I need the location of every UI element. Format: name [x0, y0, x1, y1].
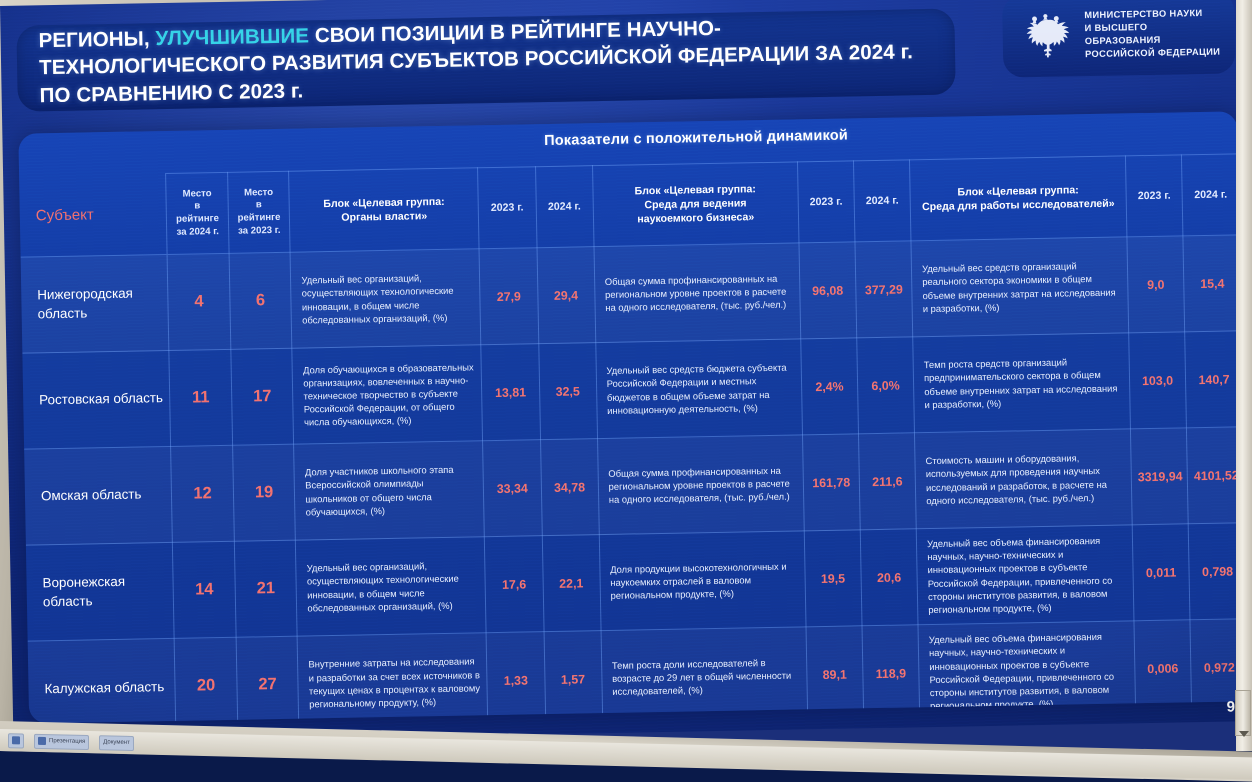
cell-block2-indicator: Темп роста доли исследователей в возраст… — [601, 627, 808, 724]
window-scrollbar[interactable] — [1236, 0, 1252, 751]
taskbar-item-presentation[interactable]: Презентация — [34, 733, 89, 749]
col-header-subject: Субъект — [19, 173, 167, 257]
cell-block2-2024: 6,0% — [857, 337, 915, 434]
col-header-block1-2023: 2023 г. — [478, 167, 537, 249]
cell-block1-2023: 27,9 — [479, 248, 538, 345]
cell-block1-indicator: Удельный вес организаций, осуществляющих… — [296, 537, 487, 636]
col-header-block2-2023: 2023 г. — [797, 161, 855, 243]
banner-spacer-cell — [18, 131, 166, 176]
cell-block2-2023: 96,08 — [799, 242, 857, 339]
start-icon — [12, 736, 20, 744]
cell-block1-2024: 29,4 — [537, 247, 596, 344]
col-header-rank-2023: Место в рейтинге за 2023 г. — [227, 171, 290, 253]
ministry-logo-text: МИНИСТЕРСТВО НАУКИ И ВЫСШЕГО ОБРАЗОВАНИЯ… — [1084, 6, 1221, 61]
cell-rank2024: 4 — [167, 253, 230, 350]
cell-block3-2023: 103,0 — [1129, 332, 1187, 429]
cell-block3-indicator: Удельный вес объема финансирования научн… — [916, 525, 1134, 625]
presentation-slide: РЕГИОНЫ, УЛУЧШИВШИЕ СВОИ ПОЗИЦИИ В РЕЙТИ… — [0, 0, 1252, 744]
cell-block1-indicator: Внутренние затраты на исследования и раз… — [297, 633, 488, 724]
rank2024-line1: Место — [173, 188, 222, 202]
cell-block2-2023: 161,78 — [802, 434, 860, 531]
title-highlight: УЛУЧШИВШИЕ — [155, 24, 309, 50]
col-header-block2-2024: 2024 г. — [853, 160, 911, 242]
cell-subject: Омская область — [24, 446, 173, 545]
title-segment-1: РЕГИОНЫ, — [38, 27, 155, 52]
cell-block3-indicator: Стоимость машин и оборудования, использу… — [915, 429, 1133, 529]
cell-block1-2023: 1,33 — [486, 632, 545, 724]
cell-block2-indicator: Общая сумма профинансированных на регион… — [594, 243, 801, 343]
cell-rank2023: 21 — [234, 540, 297, 637]
col-header-block-researchers: Блок «Целевая группа: Среда для работы и… — [910, 156, 1127, 241]
cell-rank2024: 14 — [173, 541, 236, 638]
col-header-block3-2023: 2023 г. — [1125, 155, 1183, 237]
cell-rank2023: 27 — [236, 636, 299, 723]
cell-block3-2023: 3319,94 — [1130, 428, 1188, 525]
cell-block1-indicator: Доля обучающихся в образовательных орган… — [292, 345, 483, 444]
cell-block2-2024: 211,6 — [858, 433, 916, 530]
taskbar-item-document[interactable]: Документ — [99, 735, 134, 751]
taskbar-start-button[interactable] — [8, 733, 24, 748]
slide-page-number: 9 — [1227, 698, 1236, 715]
slide-title-plate: РЕГИОНЫ, УЛУЧШИВШИЕ СВОИ ПОЗИЦИИ В РЕЙТИ… — [16, 9, 955, 112]
cell-block2-2023: 2,4% — [801, 338, 859, 435]
indicators-table: Субъект Место в рейтинге за 2024 г. Мест… — [18, 111, 1248, 723]
cell-block1-2024: 32,5 — [538, 343, 597, 440]
col-header-block1-2024: 2024 г. — [535, 166, 594, 248]
cell-block3-2024: 15,4 — [1183, 235, 1241, 332]
cell-block2-2023: 89,1 — [806, 626, 864, 723]
ministry-logo-plate: МИНИСТЕРСТВО НАУКИ И ВЫСШЕГО ОБРАЗОВАНИЯ… — [1002, 0, 1235, 78]
block2-line3: наукоемкого бизнеса» — [600, 210, 792, 228]
cell-block1-2023: 13,81 — [481, 344, 540, 441]
cell-block3-2023: 0,006 — [1134, 620, 1192, 717]
col-header-rank-2024: Место в рейтинге за 2024 г. — [166, 172, 229, 254]
taskbar-item-presentation-label: Презентация — [49, 738, 85, 745]
col-header-block3-2024: 2024 г. — [1182, 154, 1240, 236]
cell-rank2024: 11 — [169, 349, 232, 446]
col-header-block-authorities: Блок «Целевая группа: Органы власти» — [289, 168, 479, 252]
rank2024-line2: в рейтинге — [173, 200, 222, 226]
rank2023-line1: Место — [234, 187, 283, 201]
cell-subject: Нижегородская область — [21, 254, 170, 353]
cell-block1-2023: 33,34 — [483, 440, 542, 537]
cell-block1-2023: 17,6 — [485, 536, 544, 633]
logo-line-2: И ВЫСШЕГО ОБРАЗОВАНИЯ — [1084, 19, 1220, 48]
cell-rank2023: 19 — [232, 444, 295, 541]
cell-block1-2024: 22,1 — [542, 535, 601, 632]
cell-block2-2023: 19,5 — [804, 530, 862, 627]
cell-block1-2024: 1,57 — [544, 631, 603, 724]
logo-line-3: РОССИЙСКОЙ ФЕДЕРАЦИИ — [1085, 46, 1221, 62]
cell-block1-indicator: Удельный вес организаций, осуществляющих… — [290, 249, 481, 348]
cell-block2-2024: 20,6 — [860, 529, 918, 626]
scrollbar-thumb[interactable] — [1235, 690, 1251, 736]
cell-rank2023: 17 — [231, 348, 294, 445]
cell-rank2024: 12 — [171, 445, 234, 542]
col-header-block-business: Блок «Целевая группа: Среда для ведения … — [592, 162, 799, 247]
double-headed-eagle-icon — [1016, 6, 1075, 65]
cell-subject: Ростовская область — [22, 350, 171, 449]
cell-block2-2024: 118,9 — [862, 625, 920, 722]
cell-block2-indicator: Удельный вес средств бюджета субъекта Ро… — [595, 339, 802, 439]
cell-block2-indicator: Доля продукции высокотехнологичных и нау… — [599, 531, 806, 631]
cell-block3-2024: 140,7 — [1185, 331, 1243, 428]
presentation-icon — [38, 737, 46, 745]
rank2024-line3: за 2024 г. — [173, 226, 222, 240]
cell-subject: Калужская область — [28, 638, 177, 723]
rank2023-line3: за 2023 г. — [235, 224, 284, 238]
cell-subject: Воронежская область — [26, 542, 175, 641]
logo-line-1: МИНИСТЕРСТВО НАУКИ — [1084, 6, 1220, 22]
cell-block2-2024: 377,29 — [855, 241, 913, 338]
rank2023-line2: в рейтинге — [234, 199, 283, 225]
cell-block3-2023: 9,0 — [1127, 236, 1185, 333]
block3-line2: Среда для работы исследователей» — [917, 197, 1120, 215]
page-title: РЕГИОНЫ, УЛУЧШИВШИЕ СВОИ ПОЗИЦИИ В РЕЙТИ… — [38, 11, 933, 109]
cell-rank2024: 20 — [174, 637, 237, 723]
block1-line2: Органы власти» — [296, 208, 472, 226]
cell-block3-2023: 0,011 — [1132, 524, 1190, 621]
cell-block1-indicator: Доля участников школьного этапа Всеросси… — [294, 441, 485, 540]
taskbar-item-document-label: Документ — [103, 739, 130, 746]
scrollbar-down-arrow-icon[interactable] — [1239, 731, 1249, 737]
cell-block3-indicator: Удельный вес объема финансирования научн… — [918, 621, 1136, 721]
table-body: Нижегородская область46Удельный вес орга… — [21, 235, 1248, 724]
indicators-table-panel: Показатели с положительной динамикой Суб… — [18, 111, 1248, 723]
cell-block3-indicator: Удельный вес средств организаций реально… — [911, 237, 1129, 337]
cell-block2-indicator: Общая сумма профинансированных на регион… — [597, 435, 804, 535]
cell-block1-2024: 34,78 — [540, 439, 599, 536]
table-head: Субъект Место в рейтинге за 2024 г. Мест… — [18, 111, 1239, 257]
cell-block3-indicator: Темп роста средств организаций предприни… — [913, 333, 1131, 433]
cell-rank2023: 6 — [229, 252, 292, 349]
